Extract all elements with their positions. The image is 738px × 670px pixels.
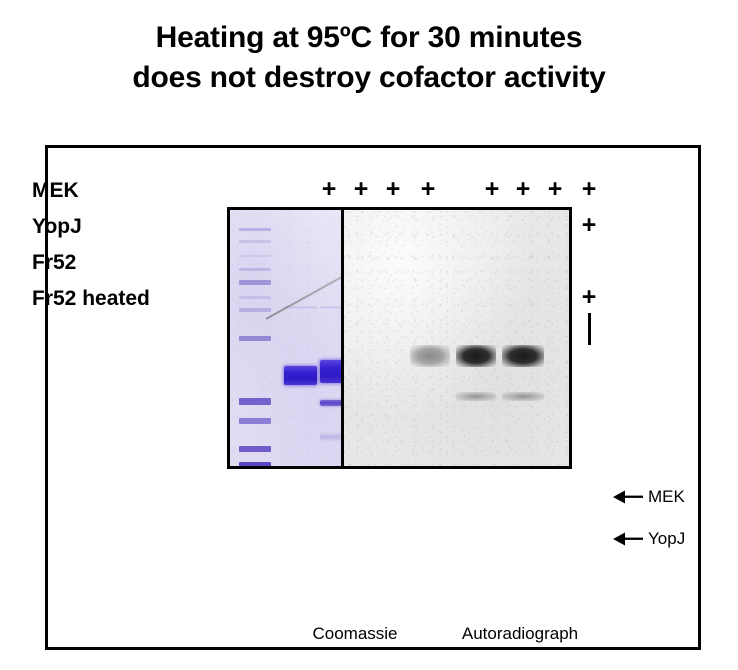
- ladder-band-1: [239, 228, 271, 231]
- title-line-2: does not destroy cofactor activity: [0, 58, 738, 98]
- autoradiograph-mek-band-lane3: [456, 345, 496, 367]
- autoradiograph-yopj-band-lane4: [502, 392, 544, 401]
- plus-mark-r4-lane8: +: [580, 285, 598, 310]
- autoradiograph-mek-band-lane2: [410, 345, 450, 367]
- page-title: Heating at 95ºC for 30 minutes does not …: [0, 18, 738, 98]
- coomassie-smear-lane2: [320, 432, 341, 442]
- autoradiograph-image: [341, 210, 569, 466]
- plus-mark-r1-lane5: +: [483, 177, 501, 202]
- plus-mark-r1-lane3: +: [384, 177, 402, 202]
- autoradiograph-mek-band-lane4: [502, 345, 544, 367]
- coomassie-mek-band-lane2: [320, 360, 341, 383]
- ladder-band-6: [239, 296, 271, 299]
- plus-mark-r1-lane7: +: [546, 177, 564, 202]
- mek-arrow-annotation-label: MEK: [648, 488, 685, 505]
- coomassie-faint-band-lane2: [320, 306, 341, 309]
- caption-coomassie: Coomassie: [312, 625, 397, 642]
- coomassie-yopj-band-lane2: [320, 400, 341, 406]
- ladder-band-12: [239, 462, 271, 466]
- film-grain-texture: [344, 210, 569, 466]
- plus-mark-r2-lane8: +: [580, 213, 598, 238]
- lane-tick-8: [588, 313, 591, 345]
- condition-label-fr52: Fr52: [32, 252, 76, 273]
- plus-mark-r1-lane2: +: [352, 177, 370, 202]
- ladder-band-3: [239, 255, 271, 257]
- arrow-left-icon: [613, 489, 643, 505]
- ladder-band-10: [239, 418, 271, 424]
- ladder-band-5: [239, 280, 271, 285]
- plus-mark-r1-lane4: +: [419, 177, 437, 202]
- plus-mark-r1-lane8: +: [580, 177, 598, 202]
- autoradiograph-yopj-band-lane3: [456, 392, 496, 401]
- coomassie-mek-band-lane1: [284, 366, 317, 385]
- condition-label-fr52-heated: Fr52 heated: [32, 288, 150, 309]
- condition-label-yopj: YopJ: [32, 216, 82, 237]
- caption-autoradiograph: Autoradiograph: [462, 625, 578, 642]
- arrow-left-icon: [613, 531, 643, 547]
- ladder-band-2: [239, 240, 271, 243]
- gel-scratch-artifact: [266, 267, 342, 320]
- ladder-band-4: [239, 268, 271, 271]
- gel-assembly: [227, 207, 572, 469]
- condition-label-mek: MEK: [32, 180, 79, 201]
- yopj-arrow-annotation-label: YopJ: [648, 530, 685, 547]
- coomassie-gel-image: [230, 210, 341, 466]
- plus-mark-r1-lane1: +: [320, 177, 338, 202]
- title-line-1: Heating at 95ºC for 30 minutes: [0, 18, 738, 58]
- ladder-band-8: [239, 336, 271, 341]
- ladder-band-9: [239, 398, 271, 405]
- mek-arrow-annotation: MEK: [613, 488, 685, 505]
- plus-mark-r1-lane6: +: [514, 177, 532, 202]
- yopj-arrow-annotation: YopJ: [613, 530, 685, 547]
- ladder-band-11: [239, 446, 271, 452]
- ladder-band-7: [239, 308, 271, 312]
